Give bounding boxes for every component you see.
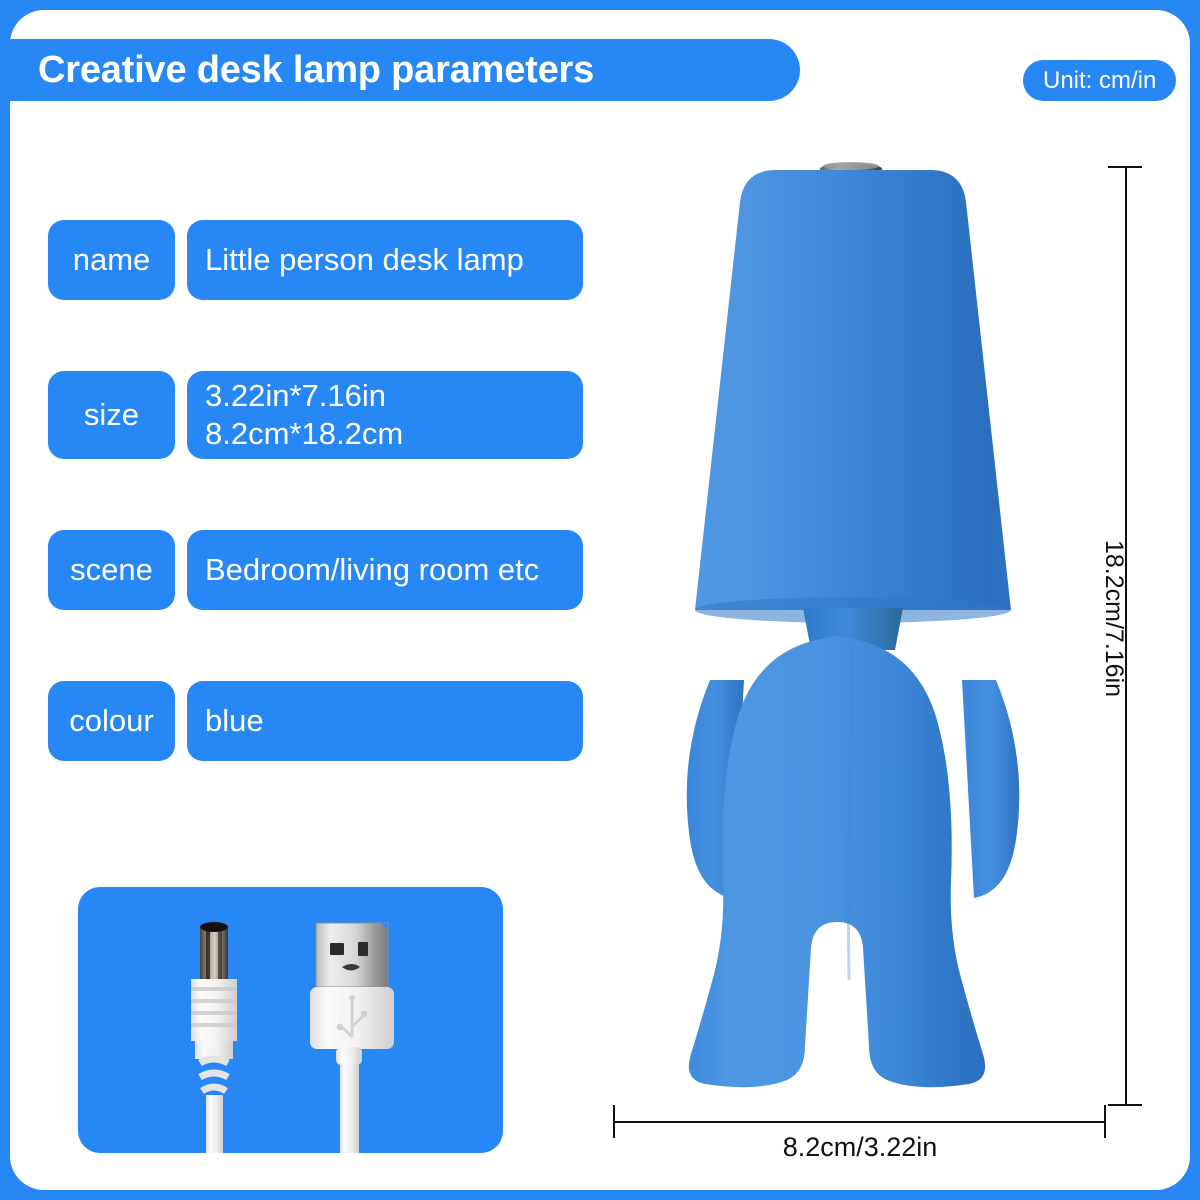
spec-key-label: colour: [69, 703, 153, 739]
lamp-illustration: [590, 150, 1130, 1110]
height-dimension-tick-top: [1108, 166, 1142, 168]
cable-photo: [78, 887, 503, 1153]
spec-key-label: name: [73, 242, 151, 278]
spec-value-label: Little person desk lamp: [205, 241, 583, 279]
spec-value-label: 3.22in*7.16in 8.2cm*18.2cm: [205, 377, 583, 453]
spec-value-label: blue: [205, 702, 583, 740]
product-image-lamp: [590, 150, 1130, 1110]
spec-value-scene: Bedroom/living room etc: [187, 530, 583, 610]
spec-key-size: size: [48, 371, 175, 459]
lamp-arm-right: [962, 680, 1019, 898]
content-panel: Creative desk lamp parameters Unit: cm/i…: [10, 10, 1190, 1190]
spec-key-name: name: [48, 220, 175, 300]
spec-value-colour: blue: [187, 681, 583, 761]
width-dimension-line: [614, 1121, 1106, 1123]
unit-badge-label: Unit: cm/in: [1043, 67, 1156, 95]
spec-key-label: size: [84, 397, 139, 433]
spec-key-scene: scene: [48, 530, 175, 610]
title-banner: Creative desk lamp parameters: [10, 39, 800, 101]
page-title: Creative desk lamp parameters: [38, 49, 594, 92]
unit-badge: Unit: cm/in: [1023, 60, 1176, 101]
width-dimension-label: 8.2cm/3.22in: [614, 1132, 1106, 1163]
spec-value-name: Little person desk lamp: [187, 220, 583, 300]
cable-inset-card: [78, 887, 503, 1153]
spec-key-colour: colour: [48, 681, 175, 761]
spec-row-name: name Little person desk lamp: [48, 220, 583, 300]
spec-row-scene: scene Bedroom/living room etc: [48, 530, 583, 610]
spec-key-label: scene: [70, 552, 153, 588]
spec-row-colour: colour blue: [48, 681, 583, 761]
infographic-page: Creative desk lamp parameters Unit: cm/i…: [0, 0, 1200, 1200]
spec-value-size: 3.22in*7.16in 8.2cm*18.2cm: [187, 371, 583, 459]
height-dimension-tick-bottom: [1108, 1104, 1142, 1106]
spec-value-label: Bedroom/living room etc: [205, 551, 583, 589]
lamp-shade: [695, 170, 1011, 610]
spec-list: name Little person desk lamp size 3.22in…: [48, 220, 583, 761]
height-dimension-label: 18.2cm/7.16in: [1099, 540, 1128, 697]
spec-row-size: size 3.22in*7.16in 8.2cm*18.2cm: [48, 371, 583, 459]
dc-barrel-plug: [191, 922, 237, 1153]
usb-a-plug: [310, 923, 394, 1153]
